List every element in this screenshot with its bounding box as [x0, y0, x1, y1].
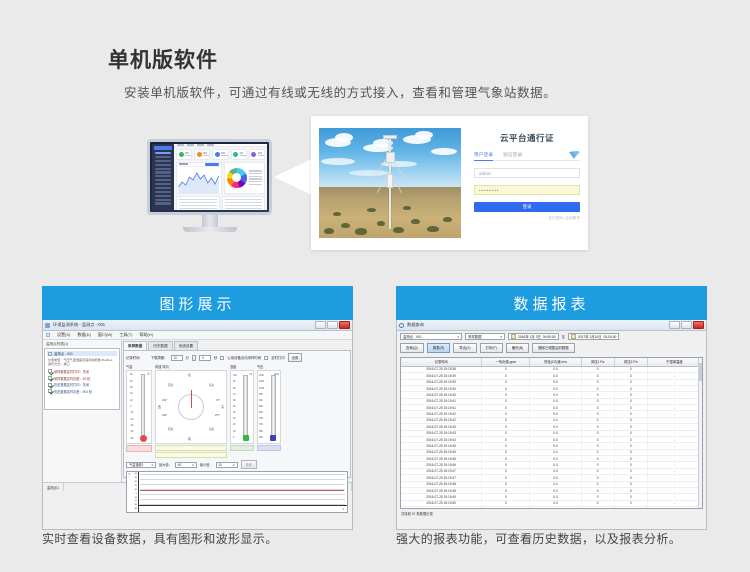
- sample-data-pane: 记录时间 下载周期： 10 分 0 秒 公用设备自动采样时间 定时打印 设置: [123, 350, 351, 478]
- cell-press2: 0: [615, 462, 648, 467]
- waveform-min-label: 最小值：: [200, 462, 213, 467]
- weather-station-photo: [319, 128, 461, 238]
- option-print-history[interactable]: 历史数据定时打印：关闭: [48, 382, 116, 387]
- waveform-grid: [140, 474, 345, 505]
- login-submit-button[interactable]: 登录: [474, 202, 580, 212]
- cell-co: 0: [482, 475, 530, 480]
- gauge-pressure-readout: [257, 445, 281, 451]
- cell-press2: 0: [615, 431, 648, 436]
- gauge-wind: 风速 风向 北 南 西 东 西北 东北 西南 东南 292°: [155, 364, 227, 458]
- cell-press1: 0: [582, 456, 615, 461]
- option-print-sample[interactable]: 采样数据定时打印：关闭: [48, 369, 116, 374]
- waveform-x-marker: 1: [343, 508, 344, 511]
- report-button[interactable]: 报表(R): [427, 343, 451, 353]
- minimize-icon[interactable]: [315, 321, 326, 329]
- cell-drybulb: -: [648, 494, 702, 499]
- monitor-stand-neck: [202, 215, 218, 227]
- cell-co: 0: [482, 431, 530, 436]
- option-label: 历史数据定时打印：关闭: [54, 382, 89, 387]
- option-label: 采样数据定时存盘：60 秒: [54, 376, 90, 381]
- cell-drybulb: -: [648, 482, 702, 487]
- cell-drybulb: -: [648, 507, 702, 509]
- cell-press2: 0: [615, 399, 648, 404]
- cell-time: 2016-07-25 15:19:50: [401, 501, 482, 506]
- cell-press2: 0: [615, 380, 648, 385]
- login-title: 云平台通行证: [474, 132, 580, 144]
- cell-press2: 0: [615, 373, 648, 378]
- menu-item-tools[interactable]: 工具(T): [119, 332, 132, 338]
- cell-press1: 0: [582, 507, 615, 509]
- checkbox-icon[interactable]: [48, 376, 52, 380]
- close-icon[interactable]: [693, 321, 704, 329]
- waveform-y-unit: ℃: [128, 473, 131, 476]
- report-panel-body: 数据查询 监测点 - 001 采样数据 2016年 1月 2日 00:00:00…: [396, 320, 707, 530]
- cell-press1: 0: [582, 462, 615, 467]
- menu-item-window[interactable]: 窗口(W): [98, 332, 112, 338]
- checkbox-icon[interactable]: [48, 389, 52, 393]
- hero-section: 云平台通行证 用户登录 短信登录 admin •••••••• 登录 忘记密码 …: [0, 110, 750, 260]
- donut-ring: [227, 168, 247, 188]
- waveform-channel-select[interactable]: 气温通道1: [126, 462, 156, 468]
- date-to-value: 2017年 1月10日: [578, 334, 602, 339]
- cell-press1: 0: [582, 437, 615, 442]
- expand-icon[interactable]: +: [48, 352, 52, 356]
- cell-press1: 0: [582, 386, 615, 391]
- cell-press2: 0: [615, 418, 648, 423]
- waveform-x-axis: [139, 505, 347, 506]
- calendar-icon: [511, 334, 516, 339]
- cell-time: 2016-07-25 15:19:39: [401, 373, 482, 378]
- dashboard-sidebar: [152, 144, 174, 210]
- waveform-plot: 50403020100 -10-20-30-40 1 ℃: [126, 471, 348, 513]
- humidity-bar-icon: % 1009080706050 403020100: [230, 370, 254, 444]
- cell-time: 2016-07-25 15:19:46: [401, 456, 482, 461]
- auto-sample-checkbox[interactable]: [220, 356, 224, 360]
- cell-drybulb: -: [648, 367, 702, 372]
- cell-press1: 0: [582, 494, 615, 499]
- app-icon: [45, 323, 50, 328]
- option-label: 历史数据定时存盘：900 秒: [54, 389, 92, 394]
- column-header-speed: 热电(O2)速 m/s: [530, 358, 581, 366]
- password-input[interactable]: ••••••••: [474, 185, 580, 195]
- date-from-value: 2016年 1月 2日: [518, 334, 541, 339]
- report-window-titlebar: 数据查询: [397, 320, 706, 331]
- cell-press1: 0: [582, 501, 615, 506]
- waveform-min-select[interactable]: 10: [216, 462, 238, 468]
- minimize-icon[interactable]: [669, 321, 680, 329]
- tab-history-data[interactable]: 历史数据: [148, 341, 172, 350]
- time-to-value: 00:00:00: [604, 335, 617, 339]
- arrow-pointer-icon: [272, 156, 314, 198]
- cell-co: 0: [482, 418, 530, 423]
- checkbox-icon[interactable]: [48, 383, 52, 387]
- cell-time: 2016-07-25 15:19:49: [401, 494, 482, 499]
- cell-speed: 0.0: [530, 424, 581, 429]
- cell-speed: 0.0: [530, 501, 581, 506]
- option-save-sample[interactable]: 采样数据定时存盘：60 秒: [48, 376, 116, 381]
- cell-co: 0: [482, 399, 530, 404]
- cell-speed: 0.0: [530, 386, 581, 391]
- cell-time: 2016-07-25 15:19:46: [401, 462, 482, 467]
- calendar-icon: [571, 334, 576, 339]
- cell-co: 0: [482, 392, 530, 397]
- wind-rose-icon: 北 南 西 东 西北 东北 西南 东南 292° 67° 202°: [155, 370, 227, 444]
- maximize-icon[interactable]: [327, 321, 338, 329]
- login-form: 云平台通行证 用户登录 短信登录 admin •••••••• 登录 忘记密码 …: [474, 132, 580, 221]
- data-report-panel: 数据报表 数据查询 监测点 - 001 采样数据 2016年 1月 2日 00:…: [396, 286, 707, 530]
- cell-time: 2016-07-25 15:19:40: [401, 392, 482, 397]
- login-footer-links[interactable]: 忘记密码 | 注册账号: [474, 216, 580, 221]
- pressure-bar-icon: kPa 110010501000950900850 80075070065060…: [257, 370, 281, 444]
- cell-co: 0: [482, 443, 530, 448]
- gauge-wind-dir-readout: [155, 452, 227, 458]
- chart-panel-header: 图形展示: [42, 286, 353, 320]
- gauge-pressure-label: 气压: [257, 364, 281, 369]
- tab-account-login[interactable]: 用户登录: [474, 152, 493, 161]
- menu-item-help[interactable]: 帮助(H): [139, 332, 153, 338]
- cell-speed: 0.0: [530, 399, 581, 404]
- page-subtitle: 安装单机版软件，可通过有线或无线的方式接入，查看和管理气象站数据。: [124, 82, 556, 101]
- cell-speed: 0.0: [530, 462, 581, 467]
- cell-co: 0: [482, 424, 530, 429]
- report-data-table[interactable]: 记录时间 一氧化碳 ppm 热电(O2)速 m/s 风压1 Pa 风压2 Pa …: [400, 357, 703, 509]
- cell-speed: 0.0: [530, 437, 581, 442]
- cell-press2: 0: [615, 386, 648, 391]
- cell-press2: 0: [615, 501, 648, 506]
- menu-item-data[interactable]: 数据(D): [77, 332, 91, 338]
- desktop-monitor: [147, 139, 272, 232]
- cell-speed: 0.0: [530, 373, 581, 378]
- cell-drybulb: -: [648, 462, 702, 467]
- station-tree-header: 监测点列表(1): [44, 341, 120, 348]
- cell-speed: 0.0: [530, 405, 581, 410]
- cell-press1: 0: [582, 443, 615, 448]
- monitor-screen: [147, 139, 272, 215]
- table-scrollbar[interactable]: [698, 358, 702, 508]
- print-button[interactable]: 打印(P): [480, 343, 503, 353]
- interval-unit: 分: [186, 355, 189, 360]
- cell-speed: 0.0: [530, 475, 581, 480]
- chart-window-menubar[interactable]: 设置(S) 数据(D) 窗口(W) 工具(T) 帮助(H): [43, 331, 352, 340]
- cell-press2: 0: [615, 482, 648, 487]
- cell-press1: 0: [582, 450, 615, 455]
- cell-speed: 0.0: [530, 469, 581, 474]
- cell-co: 0: [482, 386, 530, 391]
- cell-co: 0: [482, 456, 530, 461]
- chart-window-title: 环境监测系统 - 监测点 - 001: [53, 322, 105, 328]
- cell-press1: 0: [582, 482, 615, 487]
- backup-button[interactable]: 备份(B): [506, 343, 529, 353]
- cell-drybulb: -: [648, 431, 702, 436]
- query-button[interactable]: 查询(Q): [400, 343, 424, 353]
- waveform-max-label: 最大值：: [159, 462, 172, 467]
- column-header-drybulb: 干湿球温度: [648, 358, 702, 366]
- waveform-trace: [140, 490, 344, 491]
- cell-press2: 0: [615, 437, 648, 442]
- cell-co: 0: [482, 488, 530, 493]
- dashboard-list-left: [176, 196, 220, 210]
- gauge-temperature: 气温 ℃ 50403020100 -10-20-30-40-50: [126, 364, 152, 452]
- interval-input[interactable]: 10: [171, 355, 183, 361]
- monitor-stand-base: [183, 227, 237, 232]
- cell-press2: 0: [615, 494, 648, 499]
- mast-instrument-box: [386, 152, 395, 163]
- cell-drybulb: -: [648, 411, 702, 416]
- cell-speed: 0.0: [530, 431, 581, 436]
- cell-time: 2016-07-25 15:19:39: [401, 380, 482, 385]
- column-header-co: 一氧化碳 ppm: [482, 358, 530, 366]
- cell-speed: 0.0: [530, 443, 581, 448]
- cell-press1: 0: [582, 380, 615, 385]
- cell-press1: 0: [582, 411, 615, 416]
- delete-adjusted-button[interactable]: 删除已调整后的数据: [532, 343, 575, 353]
- date-range-separator: 至: [562, 334, 565, 339]
- datatype-select[interactable]: 采样数据: [465, 333, 505, 340]
- cell-drybulb: -: [648, 450, 702, 455]
- chart-panel-caption: 实时查看设备数据，具有图形和波形显示。: [42, 531, 372, 548]
- close-icon[interactable]: [339, 321, 350, 329]
- scrollbar-thumb[interactable]: [699, 363, 702, 381]
- cell-co: 0: [482, 469, 530, 474]
- cell-press2: 0: [615, 405, 648, 410]
- dashboard-list-right: [222, 196, 266, 210]
- checkbox-icon[interactable]: [48, 369, 52, 373]
- cell-drybulb: -: [648, 469, 702, 474]
- date-from-input[interactable]: 2016年 1月 2日 00:00:00: [508, 333, 559, 340]
- cell-speed: 0.0: [530, 482, 581, 487]
- sample-toolbar: 记录时间 下载周期： 10 分 0 秒 公用设备自动采样时间 定时打印 设置: [126, 353, 348, 362]
- cell-press1: 0: [582, 475, 615, 480]
- tab-sample-data[interactable]: 采样数据: [123, 341, 147, 350]
- mast-sensor-top: [383, 135, 397, 139]
- menu-icon: [46, 333, 50, 337]
- status-station: 监测点1: [43, 483, 64, 491]
- chart-panel-body: 环境监测系统 - 监测点 - 001 设置(S) 数据(D) 窗口(W) 工具(…: [42, 320, 353, 530]
- export-button[interactable]: 导出(X): [453, 343, 476, 353]
- gauge-humidity: 湿度 % 1009080706050 403020100: [230, 364, 254, 451]
- second-input[interactable]: 0: [199, 355, 211, 361]
- cell-drybulb: -: [648, 373, 702, 378]
- report-panel-header: 数据报表: [396, 286, 707, 320]
- interval-stepper[interactable]: [192, 355, 196, 361]
- cell-speed: 0.0: [530, 392, 581, 397]
- cell-press1: 0: [582, 424, 615, 429]
- dashboard-preview: [152, 144, 267, 210]
- cell-drybulb: -: [648, 488, 702, 493]
- cell-co: 0: [482, 501, 530, 506]
- auto-sample-label: 公用设备自动采样时间: [227, 355, 261, 360]
- cell-co: 0: [482, 462, 530, 467]
- cell-time: 2016-07-25 15:19:48: [401, 482, 482, 487]
- report-panel-caption: 强大的报表功能，可查看历史数据，以及报表分析。: [396, 531, 716, 548]
- cell-speed: 0.0: [530, 456, 581, 461]
- cell-press2: 0: [615, 469, 648, 474]
- station-tree-node[interactable]: + 监测点 - 001: [47, 351, 117, 356]
- record-time-label: 记录时间: [126, 355, 140, 360]
- cell-drybulb: -: [648, 399, 702, 404]
- cell-time: 2016-07-25 15:19:45: [401, 450, 482, 455]
- option-label: 采样数据定时打印：关闭: [54, 369, 89, 374]
- cell-co: 0: [482, 450, 530, 455]
- waveform-y-axis: 50403020100 -10-20-30-40: [127, 472, 139, 512]
- cell-drybulb: -: [648, 475, 702, 480]
- cell-co: 0: [482, 367, 530, 372]
- waveform-apply-button[interactable]: 设置: [241, 460, 257, 469]
- cell-press2: 0: [615, 392, 648, 397]
- cell-co: 0: [482, 380, 530, 385]
- thermometer-icon: ℃ 50403020100 -10-20-30-40-50: [126, 370, 152, 444]
- cell-drybulb: -: [648, 437, 702, 442]
- chart-tabs[interactable]: 采样数据 历史数据 系统设置: [123, 341, 351, 350]
- cell-drybulb: -: [648, 386, 702, 391]
- cell-co: 0: [482, 507, 530, 509]
- waveform-max-select[interactable]: 40: [175, 462, 197, 468]
- page-title: 单机版软件: [108, 44, 218, 74]
- table-row[interactable]: 2016-07-25 15:19:5000.000-: [401, 507, 702, 509]
- report-footer: 共找到 97 条数据记录: [397, 509, 706, 517]
- gauge-temperature-unit: ℃: [147, 372, 150, 376]
- date-to-input[interactable]: 2017年 1月10日 00:00:00: [568, 333, 620, 340]
- gauge-group: 气温 ℃ 50403020100 -10-20-30-40-50: [126, 364, 348, 458]
- menu-item-settings[interactable]: 设置(S): [57, 332, 70, 338]
- cell-time: 2016-07-25 15:19:48: [401, 488, 482, 493]
- cell-time: 2016-07-25 15:19:44: [401, 437, 482, 442]
- cell-press1: 0: [582, 399, 615, 404]
- column-header-press2: 风压2 Pa: [615, 358, 648, 366]
- apply-settings-button[interactable]: 设置: [288, 353, 302, 362]
- waveform-section: 气温通道1 最大值： 40 最小值： 10 设置 50403020100 -10…: [126, 460, 348, 513]
- username-input[interactable]: admin: [474, 168, 580, 178]
- mast-radiation-shield: [387, 174, 393, 188]
- cell-drybulb: -: [648, 501, 702, 506]
- cell-co: 0: [482, 482, 530, 487]
- gauge-humidity-label: 湿度: [230, 364, 254, 369]
- search-icon: [399, 323, 404, 328]
- table-header-row: 记录时间 一氧化碳 ppm 热电(O2)速 m/s 风压1 Pa 风压2 Pa …: [401, 358, 702, 367]
- dashboard-line-chart: [176, 162, 222, 194]
- cell-press1: 0: [582, 488, 615, 493]
- gauge-wind-label: 风速 风向: [155, 364, 227, 369]
- column-header-press1: 风压1 Pa: [582, 358, 615, 366]
- chart-window-titlebar: 环境监测系统 - 监测点 - 001: [43, 320, 352, 331]
- cell-drybulb: -: [648, 456, 702, 461]
- cell-co: 0: [482, 437, 530, 442]
- cell-drybulb: -: [648, 418, 702, 423]
- report-toolbar: 监测点 - 001 采样数据 2016年 1月 2日 00:00:00 至 20…: [397, 331, 706, 357]
- timed-print-label: 定时打印: [271, 355, 285, 360]
- cell-co: 0: [482, 405, 530, 410]
- cell-press2: 0: [615, 424, 648, 429]
- gauge-humidity-unit: %: [250, 372, 253, 376]
- cell-speed: 0.0: [530, 488, 581, 493]
- cell-time: 2016-07-25 15:19:43: [401, 431, 482, 436]
- cell-press2: 0: [615, 411, 648, 416]
- cell-time: 2016-07-25 15:19:40: [401, 386, 482, 391]
- cell-time: 2016-07-25 15:19:38: [401, 367, 482, 372]
- cell-press1: 0: [582, 392, 615, 397]
- cell-co: 0: [482, 411, 530, 416]
- chart-display-panel: 图形展示 环境监测系统 - 监测点 - 001 设置(S) 数据(D) 窗口(W…: [42, 286, 353, 530]
- tab-system-settings[interactable]: 系统设置: [174, 341, 198, 350]
- cell-press2: 0: [615, 450, 648, 455]
- timed-print-checkbox[interactable]: [264, 356, 268, 360]
- second-unit: 秒: [214, 355, 217, 360]
- report-action-row: 查询(Q) 报表(R) 导出(X) 打印(P) 备份(B) 删除已调整后的数据: [400, 343, 703, 353]
- cell-speed: 0.0: [530, 380, 581, 385]
- cell-co: 0: [482, 494, 530, 499]
- cell-speed: 0.0: [530, 494, 581, 499]
- cell-drybulb: -: [648, 380, 702, 385]
- cell-speed: 0.0: [530, 367, 581, 372]
- tab-sms-login[interactable]: 短信登录: [503, 152, 522, 158]
- login-tabs: 用户登录 短信登录: [474, 152, 580, 161]
- cell-press1: 0: [582, 367, 615, 372]
- cell-time: 2016-07-25 15:19:41: [401, 405, 482, 410]
- cell-speed: 0.0: [530, 507, 581, 509]
- cell-drybulb: -: [648, 392, 702, 397]
- cloud-login-card: 云平台通行证 用户登录 短信登录 admin •••••••• 登录 忘记密码 …: [311, 116, 588, 250]
- cell-time: 2016-07-25 15:19:42: [401, 418, 482, 423]
- cell-drybulb: -: [648, 443, 702, 448]
- maximize-icon[interactable]: [681, 321, 692, 329]
- dashboard-stat-cards: [174, 147, 267, 162]
- gauge-temperature-label: 气温: [126, 364, 152, 369]
- time-from-value: 00:00:00: [543, 335, 556, 339]
- column-header-time: 记录时间: [401, 358, 482, 366]
- cell-speed: 0.0: [530, 450, 581, 455]
- station-node-label: 监测点 - 001: [54, 351, 73, 356]
- cell-time: 2016-07-25 15:19:41: [401, 399, 482, 404]
- cell-press2: 0: [615, 456, 648, 461]
- cell-time: 2016-07-25 15:19:50: [401, 507, 482, 509]
- window-controls[interactable]: [315, 321, 350, 329]
- gauge-pressure: 气压 kPa 110010501000950900850 80075070065…: [257, 364, 281, 451]
- cell-press1: 0: [582, 418, 615, 423]
- window-controls[interactable]: [669, 321, 704, 329]
- dashboard-donut-chart: [224, 162, 265, 194]
- cell-press1: 0: [582, 431, 615, 436]
- waveform-controls: 气温通道1 最大值： 40 最小值： 10 设置: [126, 460, 348, 469]
- cell-time: 2016-07-25 15:19:47: [401, 475, 482, 480]
- cell-press2: 0: [615, 507, 648, 509]
- cell-speed: 0.0: [530, 411, 581, 416]
- station-note: 仪表类型：气压气温湿度风速风向雨量 Modbus 通讯方式：串口: [48, 358, 116, 367]
- dashboard-brand: [154, 146, 172, 150]
- interval-label: 下载周期：: [151, 355, 168, 360]
- report-filter-row: 监测点 - 001 采样数据 2016年 1月 2日 00:00:00 至 20…: [400, 333, 703, 340]
- cell-drybulb: -: [648, 424, 702, 429]
- cell-press2: 0: [615, 367, 648, 372]
- cell-drybulb: -: [648, 405, 702, 410]
- gauge-humidity-readout: [230, 445, 254, 451]
- cell-time: 2016-07-25 15:19:47: [401, 469, 482, 474]
- option-save-history[interactable]: 历史数据定时存盘：900 秒: [48, 389, 116, 394]
- cell-press2: 0: [615, 475, 648, 480]
- cell-co: 0: [482, 373, 530, 378]
- report-window-title: 数据查询: [407, 322, 424, 328]
- station-tree-sidebar: 监测点列表(1) + 监测点 - 001 仪表类型：气压气温湿度风速风向雨量 M…: [43, 340, 122, 482]
- cell-press1: 0: [582, 405, 615, 410]
- cell-time: 2016-07-25 15:19:45: [401, 443, 482, 448]
- gauge-temperature-readout: [126, 445, 152, 452]
- cell-time: 2016-07-25 15:19:43: [401, 424, 482, 429]
- gauge-wind-speed-readout: [155, 445, 227, 451]
- cell-press1: 0: [582, 373, 615, 378]
- cell-time: 2016-07-25 15:19:42: [401, 411, 482, 416]
- station-select[interactable]: 监测点 - 001: [400, 333, 462, 340]
- cell-press2: 0: [615, 443, 648, 448]
- cell-speed: 0.0: [530, 418, 581, 423]
